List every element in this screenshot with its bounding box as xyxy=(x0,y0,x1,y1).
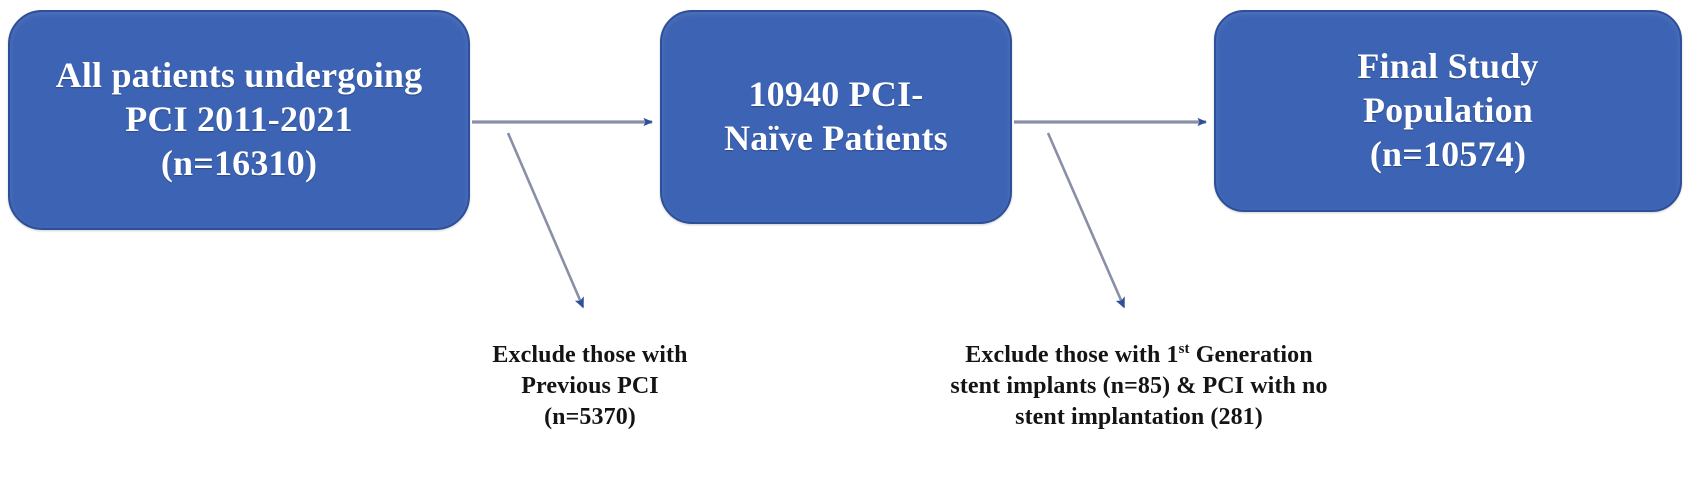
exclusion-gen1-line-1-suffix: Generation xyxy=(1190,342,1313,368)
flowchart-canvas: All patients undergoing PCI 2011-2021 (n… xyxy=(0,0,1692,504)
final-study-population-box-text: Final Study Population (n=10574) xyxy=(1347,45,1548,177)
pci-naive-box-text: 10940 PCI- Naïve Patients xyxy=(714,73,958,161)
pci-naive-line-2: Naïve Patients xyxy=(724,118,948,158)
exclusion-first-generation-stent-caption: Exclude those with 1st Generation stent … xyxy=(892,340,1386,434)
all-patients-line-1: All patients undergoing xyxy=(56,55,423,95)
final-study-line-3: (n=10574) xyxy=(1370,134,1526,174)
all-patients-box-text: All patients undergoing PCI 2011-2021 (n… xyxy=(46,54,433,186)
exclusion-gen1-line-2: stent implants (n=85) & PCI with no xyxy=(950,373,1327,399)
final-study-line-1: Final Study xyxy=(1357,46,1538,86)
exclusion-gen1-line-1: Exclude those with 1st Generation xyxy=(965,342,1312,368)
ordinal-suffix-st: st xyxy=(1179,341,1190,357)
exclusion-gen1-line-1-prefix: Exclude those with 1 xyxy=(965,342,1178,368)
exclusion-previous-pci-line-1: Exclude those with xyxy=(492,342,687,368)
exclusion-gen1-line-3: stent implantation (281) xyxy=(1015,404,1263,430)
pci-naive-line-1: 10940 PCI- xyxy=(748,74,923,114)
all-patients-box: All patients undergoing PCI 2011-2021 (n… xyxy=(8,10,470,230)
arrow-naive-to-exclusion-first-generation-stent xyxy=(1048,133,1124,307)
exclusion-previous-pci-line-2: Previous PCI xyxy=(521,373,658,399)
pci-naive-box: 10940 PCI- Naïve Patients xyxy=(660,10,1012,224)
exclusion-previous-pci-line-3: (n=5370) xyxy=(544,404,636,430)
final-study-population-box: Final Study Population (n=10574) xyxy=(1214,10,1682,212)
all-patients-line-3: (n=16310) xyxy=(161,143,317,183)
all-patients-line-2: PCI 2011-2021 xyxy=(125,99,353,139)
arrow-cohort-to-exclusion-previous-pci xyxy=(508,133,583,307)
exclusion-previous-pci-caption: Exclude those with Previous PCI (n=5370) xyxy=(430,340,750,434)
final-study-line-2: Population xyxy=(1363,90,1533,130)
